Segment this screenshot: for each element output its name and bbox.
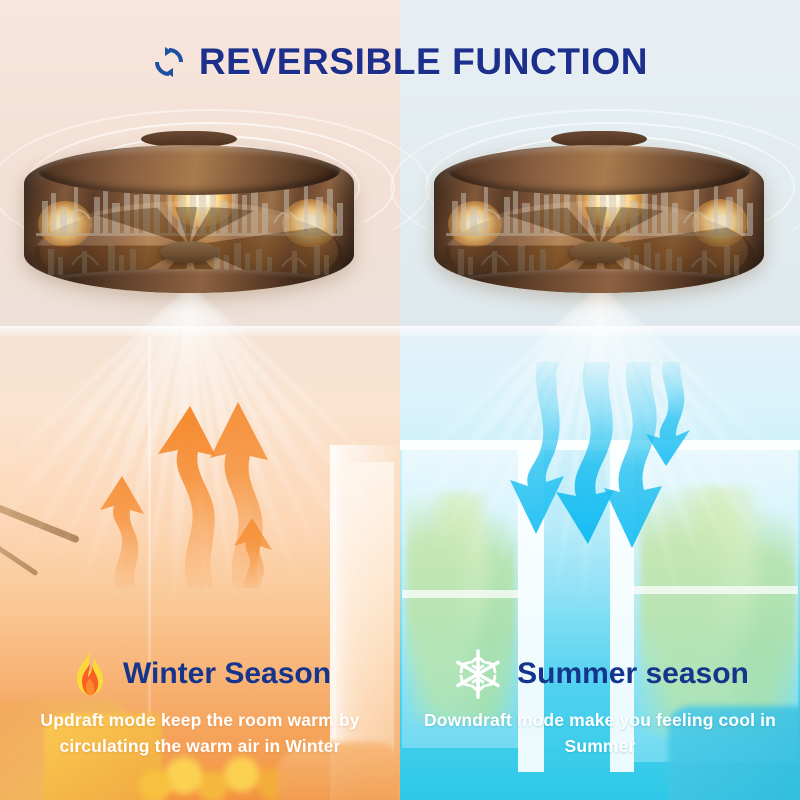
downdraft-arrow-center — [556, 362, 614, 544]
fan-bottom-rim — [46, 269, 332, 293]
fire-icon — [69, 652, 111, 696]
summer-season-heading: Summer season — [400, 648, 800, 700]
updraft-airflow-arrows — [92, 368, 312, 588]
page-title-bar: REVERSIBLE FUNCTION — [0, 36, 800, 88]
fan-motor-hub — [160, 241, 218, 263]
ceiling-fan-fixture-summer — [434, 137, 764, 312]
summer-season-block: Summer season Downdraft mode make you fe… — [400, 648, 800, 800]
winter-season-heading: Winter Season — [0, 648, 400, 700]
infographic-canvas: REVERSIBLE FUNCTION Winter Season Updraf… — [0, 0, 800, 800]
ceiling-fan-fixture-winter — [24, 137, 354, 312]
fan-bottom-rim — [456, 269, 742, 293]
updraft-arrow-left-small — [100, 476, 144, 588]
reverse-circular-arrows-icon — [152, 45, 186, 79]
fan-top-rim — [448, 147, 750, 195]
downdraft-arrow-right — [604, 362, 662, 548]
fan-drum-cage — [434, 145, 764, 293]
winter-season-title: Winter Season — [123, 657, 331, 691]
winter-season-block: Winter Season Updraft mode keep the room… — [0, 648, 400, 800]
fan-motor-hub — [570, 241, 628, 263]
page-title: REVERSIBLE FUNCTION — [199, 41, 648, 83]
snowflake-icon — [451, 647, 505, 701]
fan-drum-cage — [24, 145, 354, 293]
fan-top-rim — [38, 147, 340, 195]
downdraft-arrow-left — [510, 362, 564, 534]
summer-season-title: Summer season — [517, 657, 749, 691]
downdraft-airflow-arrows — [494, 362, 710, 596]
winter-season-description: Updraft mode keep the room warm by circu… — [0, 708, 400, 759]
updraft-arrow-center — [158, 406, 216, 588]
summer-season-description: Downdraft mode make you feeling cool in … — [400, 708, 800, 759]
